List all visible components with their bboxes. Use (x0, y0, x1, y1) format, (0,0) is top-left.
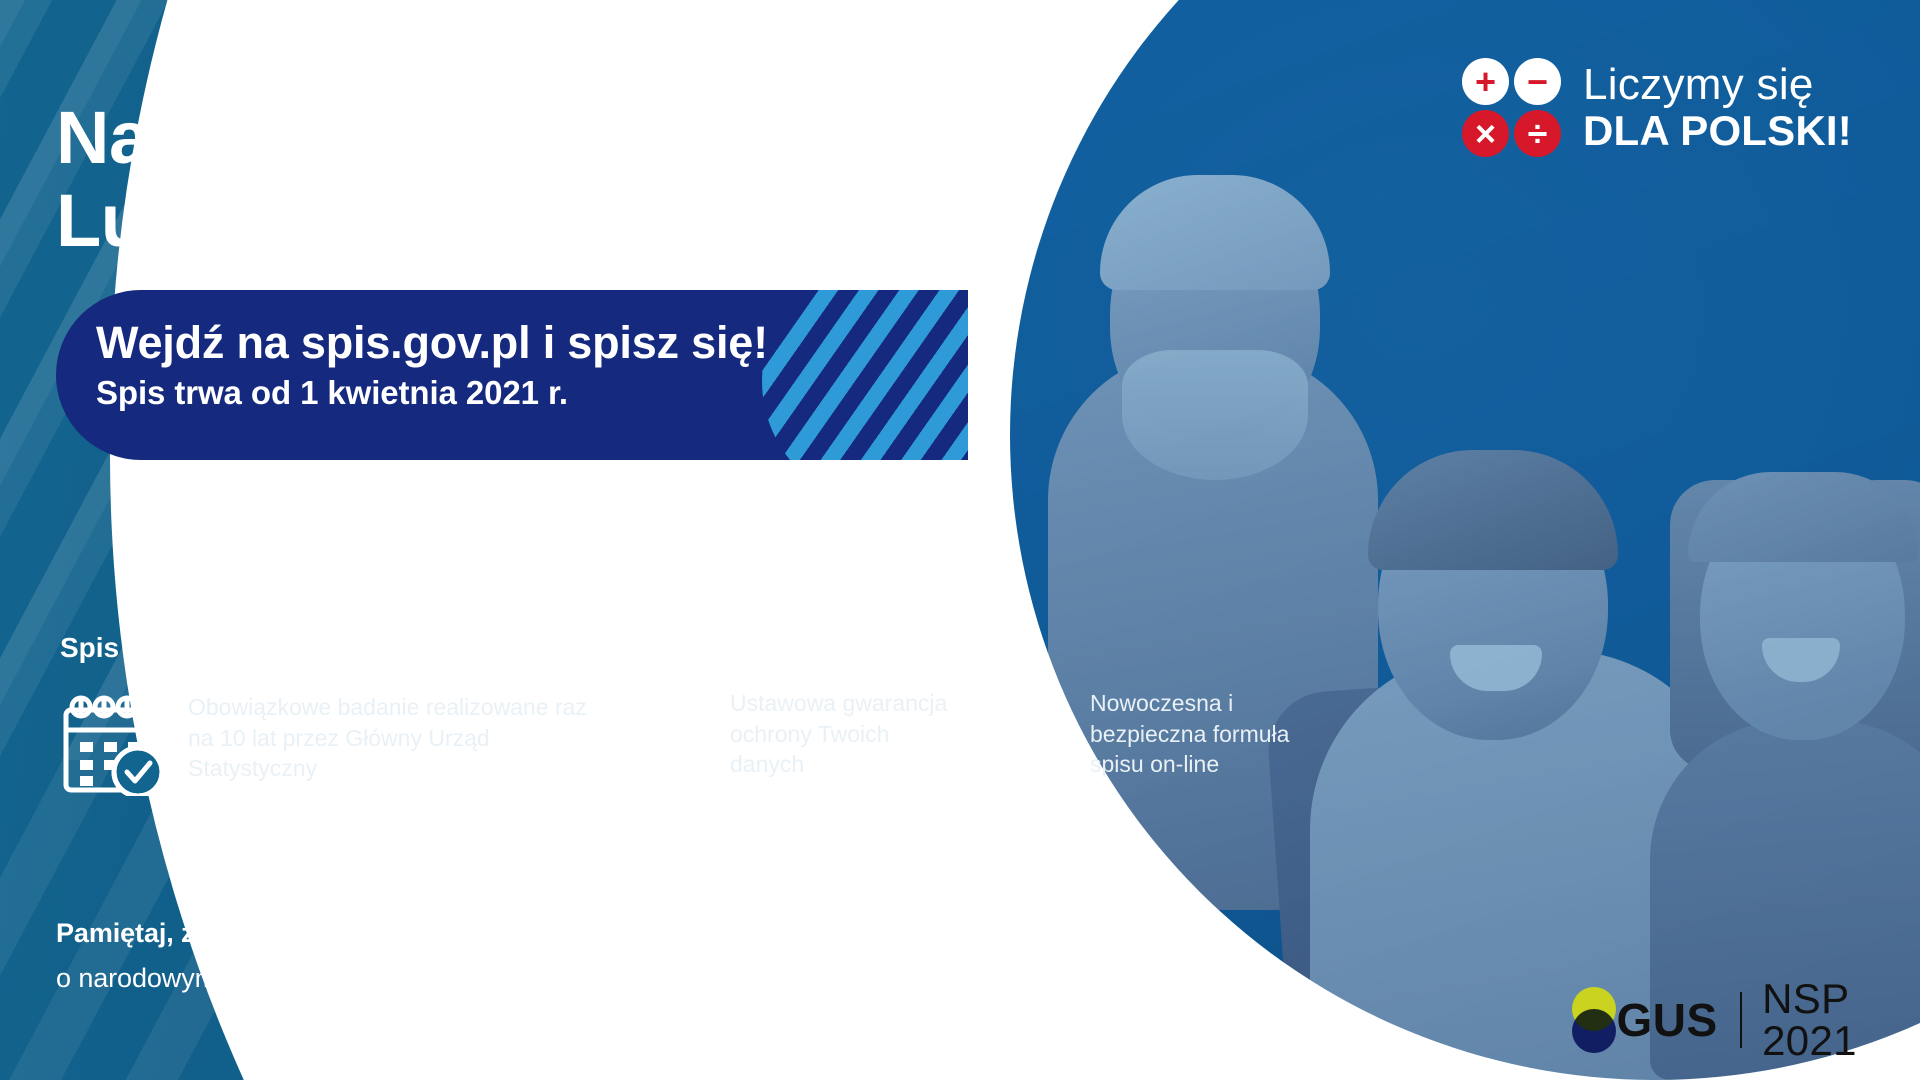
features-list: Obowiązkowe badanie realizowane raz na 1… (48, 680, 1298, 805)
cta-headline[interactable]: Wejdź na spis.gov.pl i spisz się! (96, 318, 968, 368)
gus-logo: GUS NSP 2021 (1568, 978, 1920, 1062)
page-title-line-1: Narodowy Spis Powszechny (56, 96, 1176, 180)
gus-circle-blue (1572, 1009, 1616, 1053)
feature-text-data-protection: Ustawowa gwarancja ochrony Twoich danych (730, 680, 968, 780)
cursor-click-icon (968, 690, 1072, 803)
plus-icon: + (1462, 58, 1509, 105)
features-heading: Spis Powszechny to: (60, 632, 339, 664)
feature-item-data-protection: Ustawowa gwarancja ochrony Twoich danych (618, 680, 968, 805)
slogan-line-2: DLA POLSKI! (1583, 109, 1852, 154)
legal-note-line-1: Pamiętaj, że udział w spisie to Twój obo… (56, 918, 1136, 949)
gus-wordmark: GUS (1617, 997, 1718, 1043)
campaign-slogan: + − × ÷ Liczymy się DLA POLSKI! (1462, 58, 1852, 157)
cta-subline: Spis trwa od 1 kwietnia 2021 r. (96, 374, 968, 412)
feature-text-online-form: Nowoczesna i bezpieczna formuła spisu on… (1090, 680, 1298, 780)
feature-item-online-form: Nowoczesna i bezpieczna formuła spisu on… (968, 680, 1298, 803)
nsp-2021-banner: Narodowy Spis Powszechny Ludności i Mies… (0, 0, 1920, 1080)
slogan-text: Liczymy się DLA POLSKI! (1583, 62, 1852, 153)
logo-divider (1740, 992, 1742, 1048)
slogan-line-1: Liczymy się (1583, 62, 1852, 109)
legal-note: Pamiętaj, że udział w spisie to Twój obo… (56, 918, 1136, 994)
divide-icon: ÷ (1514, 110, 1561, 157)
legal-note-line-2: o narodowym spisie powszechnym ludności … (56, 963, 1136, 994)
minus-icon: − (1514, 58, 1561, 105)
page-title-line-2: Ludności i Mieszkań 2021 (56, 179, 1176, 263)
shield-check-icon (618, 690, 710, 805)
multiply-icon: × (1462, 110, 1509, 157)
page-title: Narodowy Spis Powszechny Ludności i Mies… (56, 96, 1176, 263)
nsp-label: NSP 2021 (1762, 978, 1920, 1062)
gus-logo-mark-icon (1568, 987, 1611, 1053)
feature-item-mandatory-survey: Obowiązkowe badanie realizowane raz na 1… (48, 680, 618, 801)
cta-text-block: Wejdź na spis.gov.pl i spisz się! Spis t… (56, 290, 968, 412)
calendar-check-icon (58, 694, 170, 801)
math-symbols-group: + − × ÷ (1462, 58, 1561, 157)
feature-text-mandatory-survey: Obowiązkowe badanie realizowane raz na 1… (188, 680, 618, 784)
cta-banner[interactable]: Wejdź na spis.gov.pl i spisz się! Spis t… (56, 290, 968, 460)
